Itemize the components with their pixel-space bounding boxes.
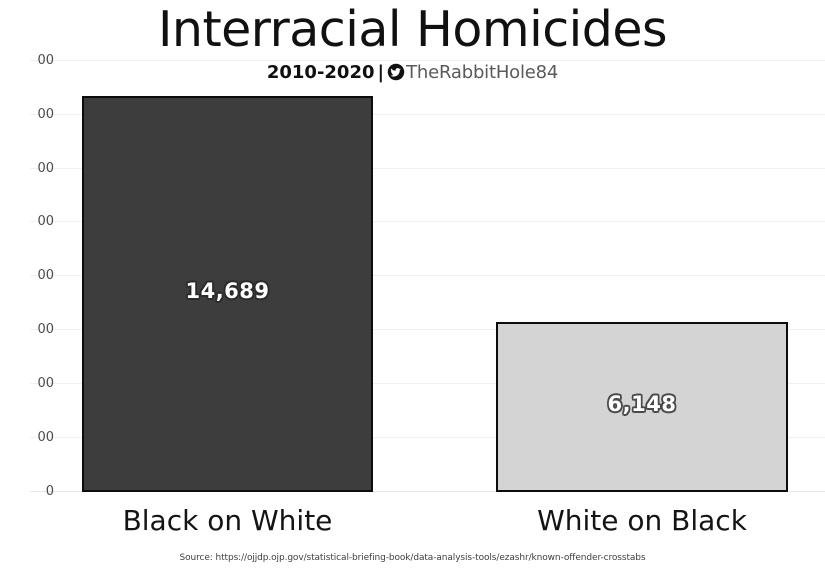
bar-value-label: 14,689 <box>84 279 371 303</box>
bar-value-label: 6,148 <box>498 392 786 416</box>
x-axis-category-label-black-on-white: Black on White <box>82 505 373 537</box>
y-axis-tick-label: 00 <box>14 377 54 390</box>
y-axis-tick-label: 00 <box>14 54 54 67</box>
y-axis-tick-label: 0 <box>14 485 54 498</box>
y-axis-tick-label: 00 <box>14 215 54 228</box>
x-axis-category-label-white-on-black: White on Black <box>496 505 788 537</box>
source-citation: Source: https://ojjdp.ojp.gov/statistica… <box>0 552 825 564</box>
y-axis-tick-label: 00 <box>14 431 54 444</box>
y-axis-tick-label: 00 <box>14 269 54 282</box>
chart-container: Interracial Homicides 2010-2020|TheRabbi… <box>0 0 825 575</box>
gridline: 00 <box>30 60 825 61</box>
y-axis-tick-label: 00 <box>14 162 54 175</box>
y-axis-tick-label: 00 <box>14 108 54 121</box>
bar-black-on-white[interactable]: 14,689 <box>82 96 373 492</box>
plot-area: 00 00 00 00 00 00 00 00 0 14,689 6,148 <box>0 0 825 575</box>
bar-white-on-black[interactable]: 6,148 <box>496 322 788 492</box>
y-axis-tick-label: 00 <box>14 323 54 336</box>
